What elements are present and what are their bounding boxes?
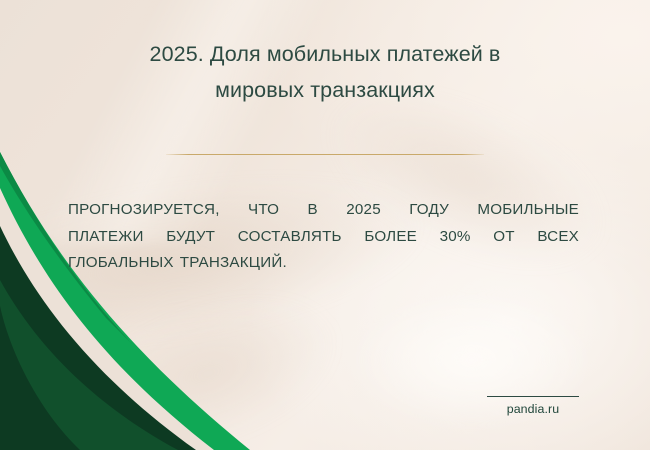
watermark-label: pandia.ru xyxy=(487,402,579,417)
body-word: 2025 xyxy=(346,197,381,224)
title-line-1: 2025. Доля мобильных платежей в xyxy=(0,36,650,72)
body-word: В xyxy=(308,197,318,224)
title-line-2: мировых транзакциях xyxy=(0,72,650,108)
body-line-3: ГЛОБАЛЬНЫХ ТРАНЗАКЦИЙ. xyxy=(68,250,579,277)
body-word: ЧТО xyxy=(248,197,279,224)
body-line-1: ПРОГНОЗИРУЕТСЯ, ЧТО В 2025 ГОДУ МОБИЛЬНЫ… xyxy=(68,197,579,224)
body-word: ТРАНЗАКЦИЙ. xyxy=(180,250,287,277)
body-paragraph: ПРОГНОЗИРУЕТСЯ, ЧТО В 2025 ГОДУ МОБИЛЬНЫ… xyxy=(68,197,579,277)
body-word: БОЛЕЕ xyxy=(364,224,417,251)
body-word: МОБИЛЬНЫЕ xyxy=(477,197,579,224)
page-title: 2025. Доля мобильных платежей в мировых … xyxy=(0,36,650,108)
body-word: ОТ xyxy=(493,224,515,251)
body-word: БУДУТ xyxy=(166,224,215,251)
body-line-2: ПЛАТЕЖИ БУДУТ СОСТАВЛЯТЬ БОЛЕЕ 30% ОТ ВС… xyxy=(68,224,579,251)
body-word: ГЛОБАЛЬНЫХ xyxy=(68,250,174,277)
body-word: 30% xyxy=(440,224,471,251)
body-word: СОСТАВЛЯТЬ xyxy=(238,224,342,251)
slide-canvas: 2025. Доля мобильных платежей в мировых … xyxy=(0,0,650,450)
footer-watermark: pandia.ru xyxy=(487,396,579,417)
body-word: ПРОГНОЗИРУЕТСЯ, xyxy=(68,197,220,224)
gold-divider xyxy=(166,154,484,155)
body-word: ГОДУ xyxy=(409,197,449,224)
body-word: ПЛАТЕЖИ xyxy=(68,224,144,251)
footer-rule xyxy=(487,396,579,397)
body-word: ВСЕХ xyxy=(537,224,579,251)
